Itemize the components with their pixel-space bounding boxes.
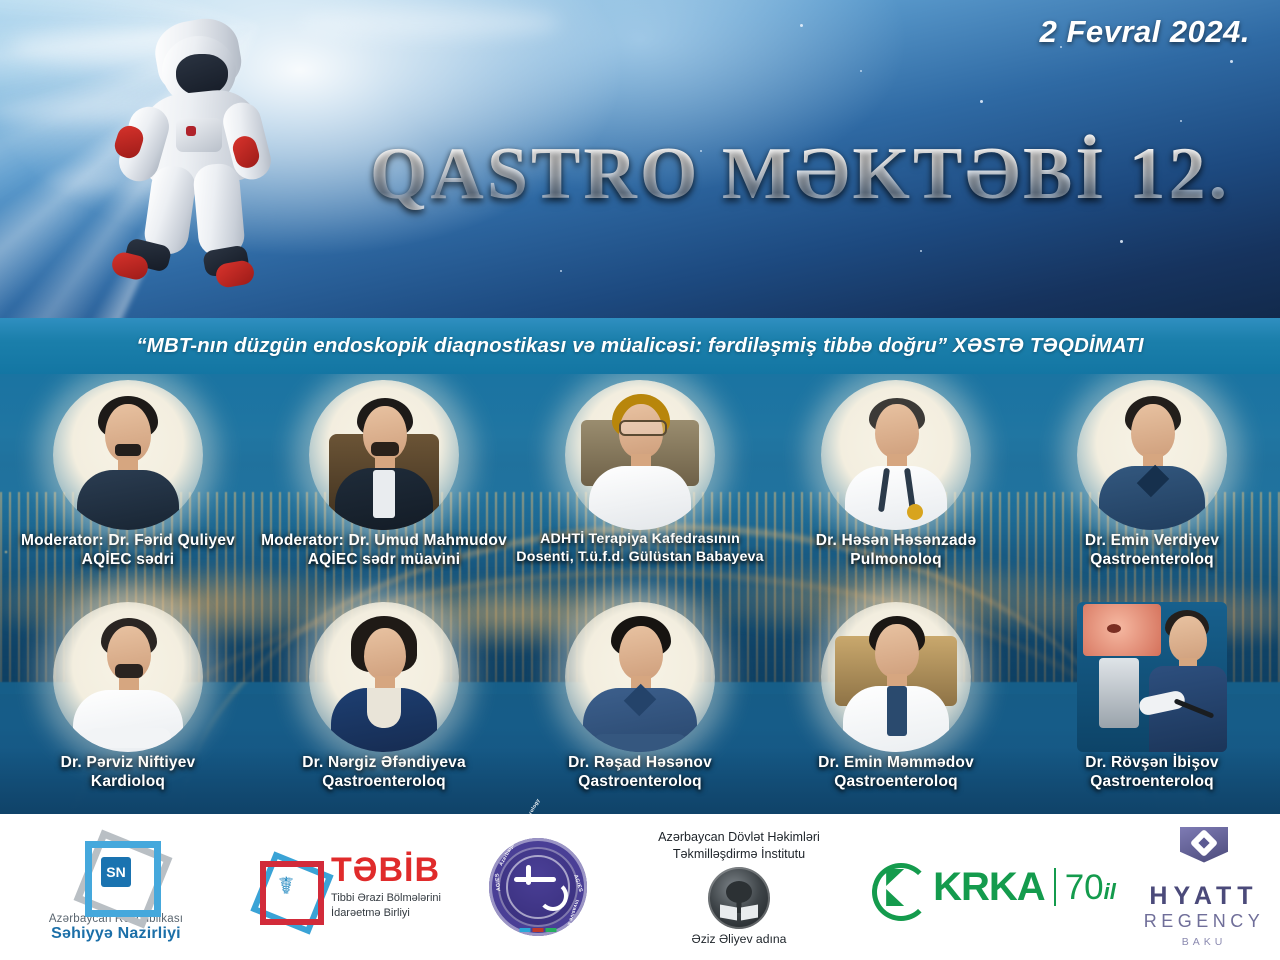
tebib-star-icon: ☤ [249,850,323,924]
avatar [821,380,971,530]
speaker-name: ADHTİ Terapiya Kafedrasının [540,532,740,548]
speaker-card: Moderator: Dr. Umud Mahmudov AQİEC sədr … [256,380,512,584]
astronaut-chest-pack [176,118,222,152]
avatar [1077,380,1227,530]
speaker-name: Dr. Nərgiz Əfəndiyeva [302,754,466,771]
speaker-card: Dr. Rəşad Həsənov Qastroenteroloq [512,602,768,808]
speaker-card: Moderator: Dr. Fərid Quliyev AQİEC sədri [0,380,256,584]
star-icon [860,70,862,72]
tebib-subtitle-1: Tibbi Ərazi Bölmələrini [331,891,441,906]
avatar [309,602,459,752]
tebib-wordmark: TƏBİB [331,853,440,887]
hero-sky-background: 2 Fevral 2024. QASTRO MƏKTƏBİ 12. [0,0,1280,318]
speaker-role: Qastroenteroloq [834,773,958,790]
star-icon [1230,60,1233,63]
star-icon [560,270,562,272]
speaker-card: Dr. Pərviz Niftiyev Kardioloq [0,602,256,808]
speaker-card: Dr. Həsən Həsənzadə Pulmonoloq [768,380,1024,584]
star-icon [980,100,983,103]
speaker-card: ADHTİ Terapiya Kafedrasının Dosenti, T.ü… [512,380,768,584]
subtitle-text: “MBT-nın düzgün endoskopik diaqnostikası… [136,334,1143,358]
speaker-role: AQİEC sədr müavini [308,551,461,568]
avatar [565,602,715,752]
avatar [821,602,971,752]
page-title: QASTRO MƏKTƏBİ 12. [360,128,1240,220]
star-icon [800,24,803,27]
speaker-name: Dr. Emin Məmmədov [818,754,974,771]
speaker-card: Dr. Rövşən İbişov Qastroenteroloq [1024,602,1280,808]
subtitle-banner: “MBT-nın düzgün endoskopik diaqnostikası… [0,318,1280,374]
caduceus-icon: ☤ [278,875,294,899]
agies-ring-text: Azerbaijan Gastroenterology Invasive End… [489,838,587,936]
endoscopy-monitor [1083,604,1161,656]
speaker-name: Dr. Emin Verdiyev [1085,532,1219,549]
avatar [53,380,203,530]
hyatt-line-3: BAKU [1182,936,1227,948]
speaker-name: Dr. Pərviz Niftiyev [61,754,196,771]
sponsor-ministry-of-health: SN Azərbaycan Respublikası Səhiyyə Nazir… [0,831,232,943]
speaker-card: Dr. Nərgiz Əfəndiyeva Qastroenteroloq [256,602,512,808]
adhti-line-2: Təkmilləşdirmə İnstitutu [673,846,805,863]
sponsor-krka: KRKA 70 il [860,861,1128,913]
avatar [53,602,203,752]
speakers-section: Moderator: Dr. Fərid Quliyev AQİEC sədri [0,374,1280,814]
sponsor-agies: Azerbaijan Gastroenterology Invasive End… [458,838,618,936]
ministry-star-icon: SN [64,831,169,913]
ministry-monogram: SN [101,857,131,887]
sponsor-adhti: Azərbaycan Dövlət Həkimləri Təkmilləşdir… [618,829,860,946]
tebib-subtitle-2: İdarəetmə Birliyi [331,906,410,921]
speaker-role: Qastroenteroloq [578,773,702,790]
speaker-role: Qastroenteroloq [322,773,446,790]
krka-anniversary-number: 70 [1065,870,1104,905]
cloud-wisp [300,8,560,38]
speaker-name: Dr. Həsən Həsənzadə [816,532,977,549]
sponsor-hyatt-regency: HYATT REGENCY BAKU [1128,827,1280,948]
speaker-card: Dr. Emin Verdiyev Qastroenteroloq [1024,380,1280,584]
adhti-footer: Əziz Əliyev adına [692,932,787,946]
krka-wordmark: KRKA [933,867,1045,907]
speaker-role: AQİEC sədri [82,551,175,568]
ministry-line-2: Səhiyyə Nazirliyi [51,925,181,943]
sponsor-tebib: ☤ TƏBİB Tibbi Ərazi Bölmələrini İdarəetm… [232,850,458,924]
avatar [309,380,459,530]
krka-anniversary-unit: il [1104,879,1116,905]
hyatt-line-2: REGENCY [1144,910,1265,933]
star-icon [920,250,922,252]
star-icon [1180,120,1182,122]
speaker-name: Moderator: Dr. Umud Mahmudov [261,532,507,549]
speaker-row-1: Moderator: Dr. Fərid Quliyev AQİEC sədri [0,380,1280,584]
speaker-name: Dr. Rövşən İbişov [1085,754,1218,771]
agies-flag-strip [520,928,557,932]
speaker-name: Moderator: Dr. Fərid Quliyev [21,532,235,549]
avatar [1077,602,1227,752]
speaker-row-2: Dr. Pərviz Niftiyev Kardioloq Dr. Nərgiz… [0,602,1280,808]
adhti-seal-icon [708,867,770,929]
speaker-role: Pulmonoloq [850,551,942,568]
krka-divider [1054,868,1056,906]
avatar [565,380,715,530]
sponsor-bar: SN Azərbaycan Respublikası Səhiyyə Nazir… [0,814,1280,960]
adhti-line-1: Azərbaycan Dövlət Həkimləri [658,829,820,846]
endoscopy-tower [1099,658,1139,728]
speaker-role: Dosenti, T.ü.f.d. Gülüstan Babayeva [516,550,763,566]
astronaut-icon [88,14,318,292]
speaker-role: Qastroenteroloq [1090,773,1214,790]
hyatt-line-1: HYATT [1149,883,1258,911]
agies-seal-icon: Azerbaijan Gastroenterology Invasive End… [489,838,587,936]
conference-poster: 2 Fevral 2024. QASTRO MƏKTƏBİ 12. “MBT-n… [0,0,1280,960]
event-date: 2 Fevral 2024. [1040,14,1250,50]
speaker-role: Kardioloq [91,773,165,790]
speaker-card: Dr. Emin Məmmədov Qastroenteroloq [768,602,1024,808]
speaker-role: Qastroenteroloq [1090,551,1214,568]
hyatt-diamond-icon [1176,827,1232,877]
star-icon [1120,240,1123,243]
speaker-name: Dr. Rəşad Həsənov [568,754,712,771]
krka-logo-icon [872,861,924,913]
